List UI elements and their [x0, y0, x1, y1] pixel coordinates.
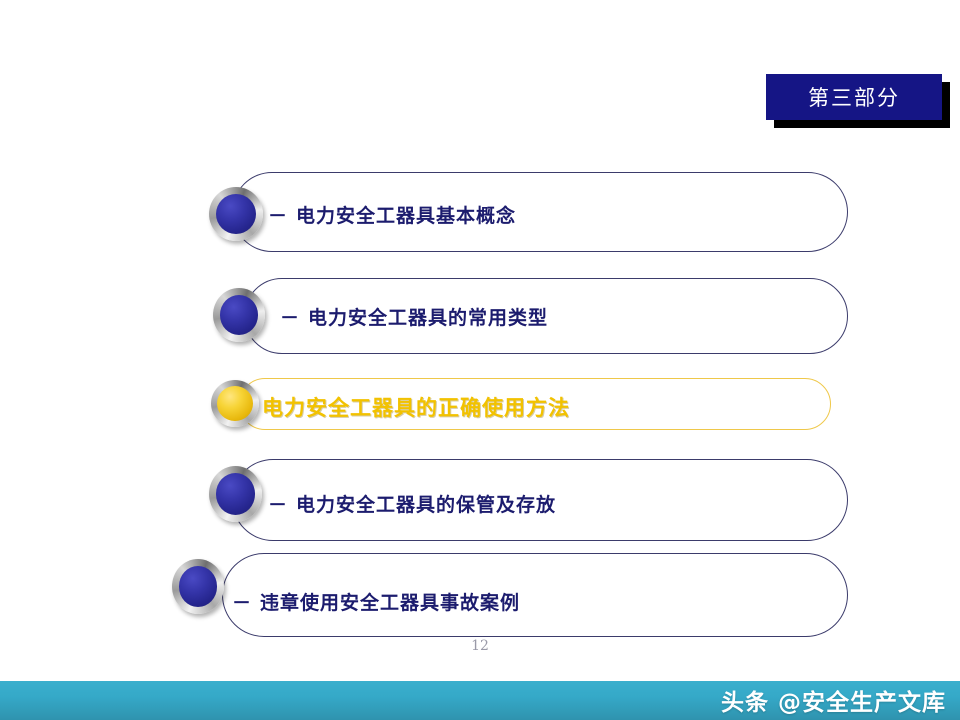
agenda-list: －电力安全工器具基本概念 －电力安全工器具的常用类型 电力安全工器具的正确使用方… — [0, 0, 960, 660]
agenda-bullet-3 — [211, 380, 259, 427]
slide-canvas: 第三部分 －电力安全工器具基本概念 －电力安全工器具的常用类型 — [0, 0, 960, 720]
agenda-bullet-core-2 — [220, 295, 258, 335]
agenda-bullet-5 — [172, 559, 224, 614]
watermark-text: 头条 @安全生产文库 — [721, 683, 946, 717]
agenda-dash-1: － — [268, 205, 296, 227]
agenda-label-text-2: 电力安全工器具的常用类型 — [308, 307, 548, 329]
agenda-label-5: －违章使用安全工器具事故案例 — [232, 588, 520, 615]
agenda-bullet-4 — [209, 466, 262, 522]
agenda-bullet-core-5 — [179, 566, 217, 607]
agenda-label-text-3: 电力安全工器具的正确使用方法 — [262, 396, 570, 420]
agenda-label-4: －电力安全工器具的保管及存放 — [268, 490, 556, 517]
agenda-label-1: －电力安全工器具基本概念 — [268, 201, 516, 228]
agenda-bullet-2 — [213, 288, 265, 342]
agenda-dash-2: － — [280, 307, 308, 329]
agenda-label-text-5: 违章使用安全工器具事故案例 — [260, 592, 520, 614]
agenda-bullet-core-3 — [217, 386, 253, 421]
agenda-bullet-core-1 — [216, 194, 256, 234]
agenda-label-text-1: 电力安全工器具基本概念 — [296, 205, 516, 227]
agenda-dash-5: － — [232, 592, 260, 614]
agenda-bullet-core-4 — [216, 473, 255, 514]
agenda-label-2: －电力安全工器具的常用类型 — [280, 303, 548, 330]
agenda-bullet-1 — [209, 187, 263, 241]
agenda-label-3: 电力安全工器具的正确使用方法 — [262, 392, 570, 422]
page-number: 12 — [0, 638, 960, 654]
agenda-label-text-4: 电力安全工器具的保管及存放 — [296, 494, 556, 516]
agenda-dash-4: － — [268, 494, 296, 516]
